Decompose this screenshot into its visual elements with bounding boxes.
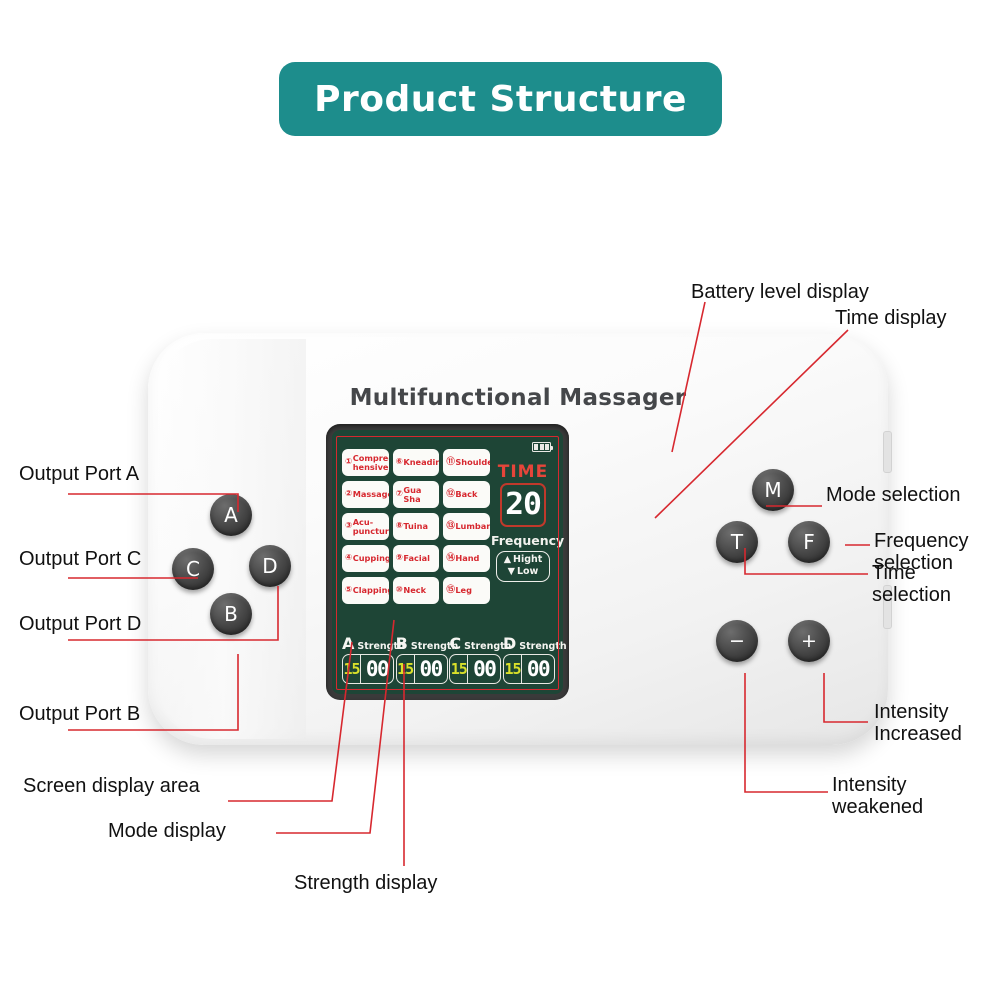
strength-current-value: 00: [361, 655, 393, 683]
intensity-increase-button[interactable]: +: [788, 620, 830, 662]
device-brand-title: Multifunctional Massager: [148, 385, 888, 411]
battery-cell: [534, 444, 538, 450]
mode-number: ⑨: [396, 554, 403, 563]
output-port-c[interactable]: C: [172, 548, 214, 590]
strength-value-display: 1500: [342, 654, 394, 684]
mode-display-grid: ①Compre- hensive⑥Kneading⑪Shoulder②Massa…: [342, 449, 490, 604]
strength-max-value: 15: [397, 655, 415, 683]
callout-intensity-increased: Intensity Increased: [874, 701, 962, 746]
time-select-button[interactable]: T: [716, 521, 758, 563]
mode-button: ⑦Gua Sha: [393, 481, 440, 508]
frequency-select-button[interactable]: F: [788, 521, 830, 563]
mode-number: ⑤: [345, 586, 352, 595]
strength-channel-letter: A: [342, 636, 354, 652]
mode-number: ⑪: [446, 458, 455, 467]
frequency-button-label: F: [803, 530, 815, 554]
strength-channel: BStrength1500: [396, 636, 448, 684]
strength-channel: DStrength1500: [503, 636, 555, 684]
mode-number: ⑩: [396, 586, 403, 595]
massager-device: Multifunctional Massager ①Compre- hensiv…: [148, 333, 888, 745]
strength-value-display: 1500: [396, 654, 448, 684]
mode-label: Acu- puncture: [353, 518, 389, 535]
screen-bezel: ①Compre- hensive⑥Kneading⑪Shoulder②Massa…: [326, 424, 569, 700]
strength-channel-letter: D: [503, 636, 516, 652]
mode-button: ⑩Neck: [393, 577, 440, 604]
mode-select-button[interactable]: M: [752, 469, 794, 511]
mode-number: ⑥: [396, 458, 403, 467]
mode-label: Compre- hensive: [353, 454, 389, 471]
strength-channel-header: CStrength: [449, 636, 501, 652]
strength-channel-header: BStrength: [396, 636, 448, 652]
frequency-low-label: Low: [517, 566, 538, 578]
callout-strength-display: Strength display: [294, 872, 437, 894]
mode-button: ⑭Hand: [443, 545, 490, 572]
frequency-high-label: Hight: [513, 554, 542, 566]
mode-label: Hand: [455, 554, 479, 562]
page-title-banner: Product Structure: [279, 62, 722, 136]
output-port-d-label: D: [262, 554, 277, 578]
mode-button: ③Acu- puncture: [342, 513, 389, 540]
callout-output-port-c: Output Port C: [19, 548, 141, 570]
callout-mode-selection: Mode selection: [826, 484, 961, 506]
strength-current-value: 00: [415, 655, 447, 683]
strength-channel-letter: B: [396, 636, 408, 652]
callout-output-port-d: Output Port D: [19, 613, 141, 635]
callout-time-display: Time display: [835, 307, 947, 329]
battery-cell: [545, 444, 549, 450]
mode-button: ⑤Clapping: [342, 577, 389, 604]
mode-label: Shoulder: [455, 458, 490, 466]
mode-button: ⑥Kneading: [393, 449, 440, 476]
callout-output-port-b: Output Port B: [19, 703, 140, 725]
time-value-box: 20: [500, 483, 546, 527]
callout-mode-display: Mode display: [108, 820, 226, 842]
frequency-label: Frequency: [491, 533, 555, 548]
mode-button: ⑨Facial: [393, 545, 440, 572]
intensity-decrease-button[interactable]: −: [716, 620, 758, 662]
mode-label: Gua Sha: [403, 486, 439, 503]
plus-icon: +: [801, 630, 817, 652]
frequency-indicator-box: ▲ Hight ▼ Low: [496, 551, 550, 582]
mode-number: ⑭: [446, 554, 455, 563]
mode-number: ⑬: [446, 522, 455, 531]
mode-label: Clapping: [353, 586, 389, 594]
mode-button: ⑪Shoulder: [443, 449, 490, 476]
mode-label: Kneading: [403, 458, 439, 466]
side-port-notch-top: [883, 431, 892, 473]
output-port-a-label: A: [224, 503, 238, 527]
time-display-block: TIME 20 Frequency ▲ Hight ▼ Low: [491, 464, 555, 582]
mode-label: Cupping: [353, 554, 389, 562]
mode-label: Tuina: [403, 522, 428, 530]
callout-output-port-a: Output Port A: [19, 463, 139, 485]
strength-current-value: 00: [468, 655, 500, 683]
mode-number: ④: [345, 554, 352, 563]
mode-button: ⑮Leg: [443, 577, 490, 604]
mode-number: ①: [345, 458, 352, 467]
mode-button: ④Cupping: [342, 545, 389, 572]
strength-current-value: 00: [522, 655, 554, 683]
mode-label: Back: [455, 490, 477, 498]
callout-intensity-weakened: Intensity weakened: [832, 774, 923, 819]
triangle-down-icon: ▼: [508, 566, 515, 578]
triangle-up-icon: ▲: [504, 554, 511, 566]
mode-button: ②Massage: [342, 481, 389, 508]
lcd-screen: ①Compre- hensive⑥Kneading⑪Shoulder②Massa…: [332, 430, 563, 694]
mode-button: ⑬Lumbar: [443, 513, 490, 540]
frequency-high-row: ▲ Hight: [497, 554, 549, 566]
strength-channel: AStrength1500: [342, 636, 394, 684]
output-port-c-label: C: [186, 557, 200, 581]
strength-value-display: 1500: [449, 654, 501, 684]
strength-max-value: 15: [504, 655, 522, 683]
mode-label: Massage: [353, 490, 389, 498]
battery-cell: [540, 444, 544, 450]
strength-value-display: 1500: [503, 654, 555, 684]
output-port-b-label: B: [224, 602, 238, 626]
battery-icon: [532, 442, 551, 452]
strength-channel: CStrength1500: [449, 636, 501, 684]
frequency-low-row: ▼ Low: [497, 566, 549, 578]
strength-max-value: 15: [343, 655, 361, 683]
mode-label: Lumbar: [455, 522, 490, 530]
page-title: Product Structure: [314, 79, 687, 120]
output-port-a[interactable]: A: [210, 494, 252, 536]
strength-max-value: 15: [450, 655, 468, 683]
mode-button-label: M: [764, 478, 781, 502]
output-port-d[interactable]: D: [249, 545, 291, 587]
callout-time-selection: Time selection: [872, 562, 951, 607]
callout-battery-level-display: Battery level display: [691, 281, 869, 303]
mode-number: ②: [345, 490, 352, 499]
time-label: TIME: [491, 464, 555, 481]
minus-icon: −: [729, 630, 745, 652]
mode-label: Leg: [455, 586, 472, 594]
mode-label: Facial: [403, 554, 430, 562]
strength-channel-header: AStrength: [342, 636, 394, 652]
time-value: 20: [505, 490, 541, 520]
strength-channel-letter: C: [449, 636, 461, 652]
time-button-label: T: [731, 530, 743, 554]
mode-button: ⑫Back: [443, 481, 490, 508]
mode-number: ⑮: [446, 586, 455, 595]
mode-button: ⑧Tuina: [393, 513, 440, 540]
mode-number: ⑫: [446, 490, 455, 499]
mode-number: ③: [345, 522, 352, 531]
strength-channel-header: DStrength: [503, 636, 555, 652]
mode-label: Neck: [403, 586, 426, 594]
callout-screen-display-area: Screen display area: [23, 775, 200, 797]
strength-word-label: Strength: [519, 641, 566, 652]
strength-display-row: AStrength1500BStrength1500CStrength1500D…: [342, 636, 555, 684]
output-port-b[interactable]: B: [210, 593, 252, 635]
mode-button: ①Compre- hensive: [342, 449, 389, 476]
mode-number: ⑦: [396, 490, 403, 499]
mode-number: ⑧: [396, 522, 403, 531]
